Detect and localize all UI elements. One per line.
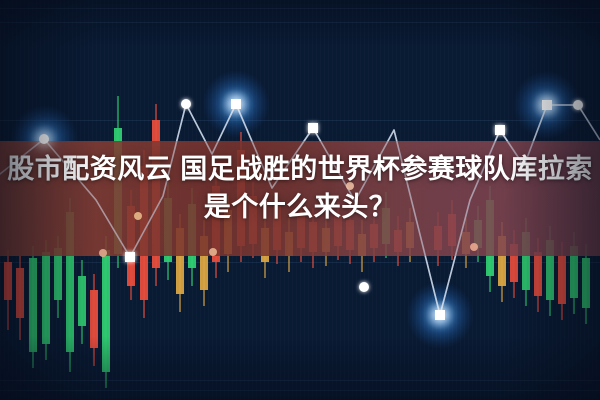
headline-line-1: 股市配资风云 国足战胜的世界杯参赛球队库拉索 xyxy=(7,154,593,184)
headline-line-2: 是个什么来头？ xyxy=(0,188,600,226)
news-thumbnail: 股市配资风云 国足战胜的世界杯参赛球队库拉索 是个什么来头？ xyxy=(0,0,600,400)
headline: 股市配资风云 国足战胜的世界杯参赛球队库拉索 是个什么来头？ xyxy=(0,150,600,226)
